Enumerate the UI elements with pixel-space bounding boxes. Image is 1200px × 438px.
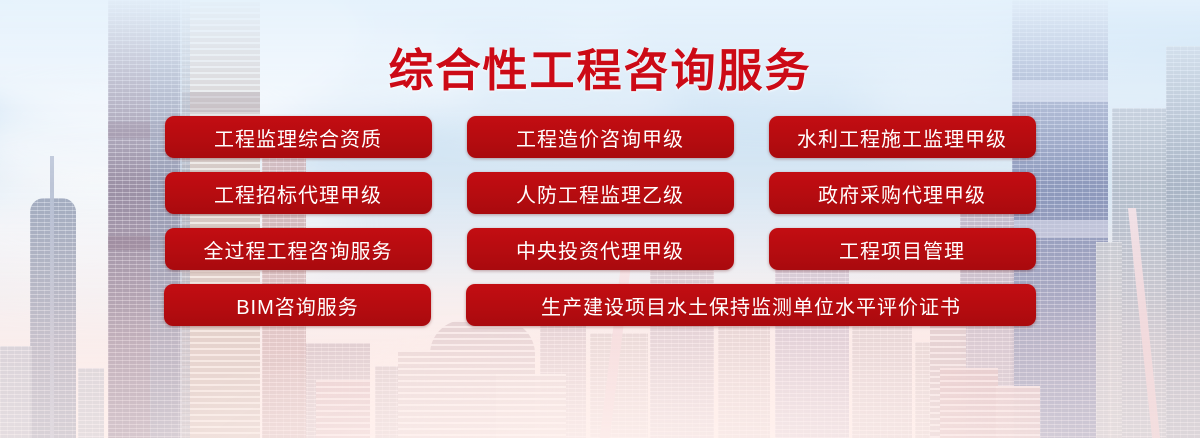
qualification-badge[interactable]: 工程造价咨询甲级 [467, 116, 734, 158]
qualification-badge[interactable]: 中央投资代理甲级 [467, 228, 734, 270]
qualification-badge[interactable]: 工程监理综合资质 [165, 116, 432, 158]
qualification-badge[interactable]: 水利工程施工监理甲级 [769, 116, 1036, 158]
qualification-badge[interactable]: 工程招标代理甲级 [165, 172, 432, 214]
qualification-badge[interactable]: BIM咨询服务 [164, 284, 431, 326]
qualification-badge[interactable]: 人防工程监理乙级 [467, 172, 734, 214]
qualification-row: BIM咨询服务 生产建设项目水土保持监测单位水平评价证书 [164, 284, 1036, 326]
banner-content: 综合性工程咨询服务 工程监理综合资质 工程造价咨询甲级 水利工程施工监理甲级 工… [0, 0, 1200, 438]
qualification-row: 全过程工程咨询服务 中央投资代理甲级 工程项目管理 [164, 228, 1036, 270]
page-title: 综合性工程咨询服务 [388, 48, 811, 93]
qualification-badge[interactable]: 全过程工程咨询服务 [165, 228, 432, 270]
qualification-grid: 工程监理综合资质 工程造价咨询甲级 水利工程施工监理甲级 工程招标代理甲级 人防… [164, 116, 1036, 326]
qualification-badge[interactable]: 工程项目管理 [769, 228, 1036, 270]
qualification-row: 工程监理综合资质 工程造价咨询甲级 水利工程施工监理甲级 [164, 116, 1036, 158]
qualification-badge-wide[interactable]: 生产建设项目水土保持监测单位水平评价证书 [466, 284, 1036, 326]
qualification-badge[interactable]: 政府采购代理甲级 [769, 172, 1036, 214]
qualification-row: 工程招标代理甲级 人防工程监理乙级 政府采购代理甲级 [164, 172, 1036, 214]
qualification-banner: 综合性工程咨询服务 工程监理综合资质 工程造价咨询甲级 水利工程施工监理甲级 工… [0, 0, 1200, 438]
